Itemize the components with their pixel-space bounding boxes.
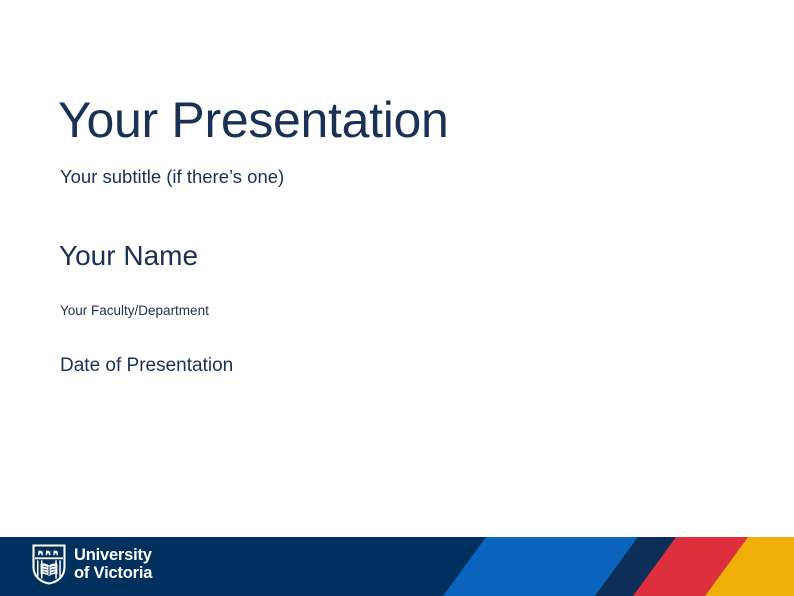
uvic-logo-wordmark: University of Victoria: [74, 547, 152, 583]
presentation-date: Date of Presentation: [60, 355, 233, 377]
uvic-logo-line-2: of Victoria: [74, 565, 152, 583]
presentation-slide: Your Presentation Your subtitle (if ther…: [0, 0, 794, 596]
page-title: Your Presentation: [58, 94, 449, 147]
uvic-logo-line-1: University: [74, 547, 152, 565]
presenter-name: Your Name: [59, 240, 198, 272]
slide-subtitle: Your subtitle (if there’s one): [60, 166, 284, 188]
uvic-crest-icon: [32, 544, 66, 585]
uvic-logo: University of Victoria: [32, 544, 152, 585]
slide-footer: University of Victoria: [0, 537, 794, 596]
presenter-department: Your Faculty/Department: [60, 303, 209, 318]
